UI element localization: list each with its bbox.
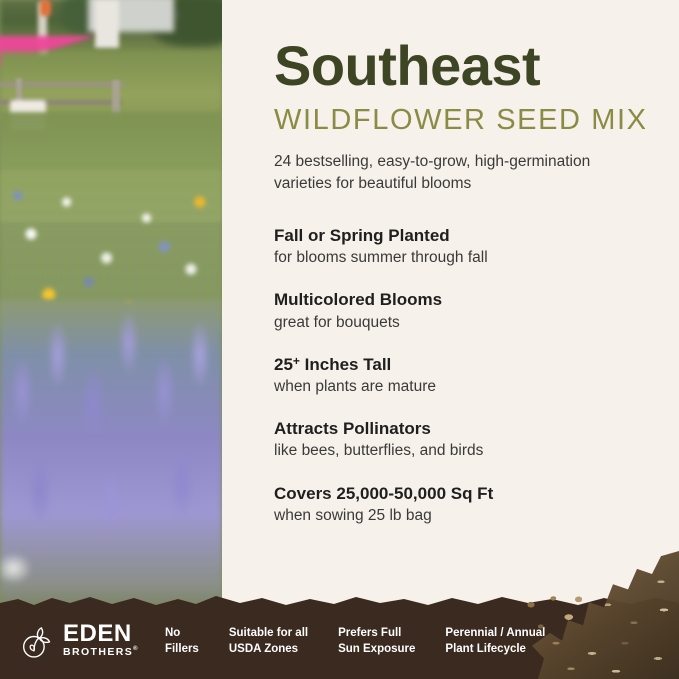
feature-list: Fall or Spring Planted for blooms summer… [274, 225, 669, 526]
content-panel: Southeast WILDFLOWER SEED MIX 24 bestsel… [274, 0, 669, 547]
feature-title-rest: Inches Tall [300, 355, 391, 374]
feature-item: 25+ Inches Tall when plants are mature [274, 354, 669, 397]
brand-logo: EDEN BROTHERS® [20, 623, 139, 659]
brand-name-secondary: BROTHERS® [63, 646, 139, 659]
feature-subtitle: like bees, butterflies, and birds [274, 441, 669, 461]
page-title: Southeast [274, 0, 669, 94]
feature-title-number: 25 [274, 355, 293, 374]
registered-trademark-icon: ® [133, 646, 139, 652]
photo-post [95, 0, 119, 48]
feature-subtitle: for blooms summer through fall [274, 248, 669, 268]
feature-item: Attracts Pollinators like bees, butterfl… [274, 418, 669, 461]
benefit-badge: Prefers Full Sun Exposure [338, 625, 415, 658]
benefit-badge-list: No Fillers Suitable for all USDA Zones P… [165, 625, 575, 658]
benefit-badge: Suitable for all USDA Zones [229, 625, 308, 658]
benefit-badge-line1: Suitable for all [229, 625, 308, 641]
brand-name-primary: EDEN [63, 623, 139, 645]
feature-item: Covers 25,000-50,000 Sq Ft when sowing 2… [274, 483, 669, 526]
benefit-badge-line2: Sun Exposure [338, 641, 415, 657]
brand-name-secondary-text: BROTHERS [63, 646, 133, 658]
benefit-badge-line1: Prefers Full [338, 625, 415, 641]
benefit-badge-line2: USDA Zones [229, 641, 308, 657]
benefit-badge-line2: Plant Lifecycle [445, 641, 545, 657]
feature-title: Multicolored Blooms [274, 289, 669, 310]
wildflower-seed-specks [517, 589, 587, 641]
wildflower-meadow-photo [0, 0, 222, 605]
benefit-badge-line2: Fillers [165, 641, 199, 657]
feature-title: Covers 25,000-50,000 Sq Ft [274, 483, 669, 504]
feature-subtitle: when sowing 25 lb bag [274, 506, 669, 526]
brand-logo-text: EDEN BROTHERS® [63, 623, 139, 659]
feature-subtitle: great for bouquets [274, 313, 669, 333]
feature-title: Attracts Pollinators [274, 418, 669, 439]
product-info-card: Southeast WILDFLOWER SEED MIX 24 bestsel… [0, 0, 679, 679]
sprout-seed-icon [20, 623, 56, 659]
page-subtitle: WILDFLOWER SEED MIX [274, 106, 669, 135]
benefit-badge-line1: No [165, 625, 199, 641]
feature-subtitle: when plants are mature [274, 377, 669, 397]
feature-item: Multicolored Blooms great for bouquets [274, 289, 669, 332]
feature-title-superscript: + [293, 354, 300, 368]
feature-item: Fall or Spring Planted for blooms summer… [274, 225, 669, 268]
photo-marker [40, 0, 51, 16]
feature-title: 25+ Inches Tall [274, 354, 669, 375]
benefit-badge: No Fillers [165, 625, 199, 658]
feature-title: Fall or Spring Planted [274, 225, 669, 246]
intro-text: 24 bestselling, easy-to-grow, high-germi… [274, 151, 624, 195]
photo-lavender-foreground [0, 300, 222, 605]
